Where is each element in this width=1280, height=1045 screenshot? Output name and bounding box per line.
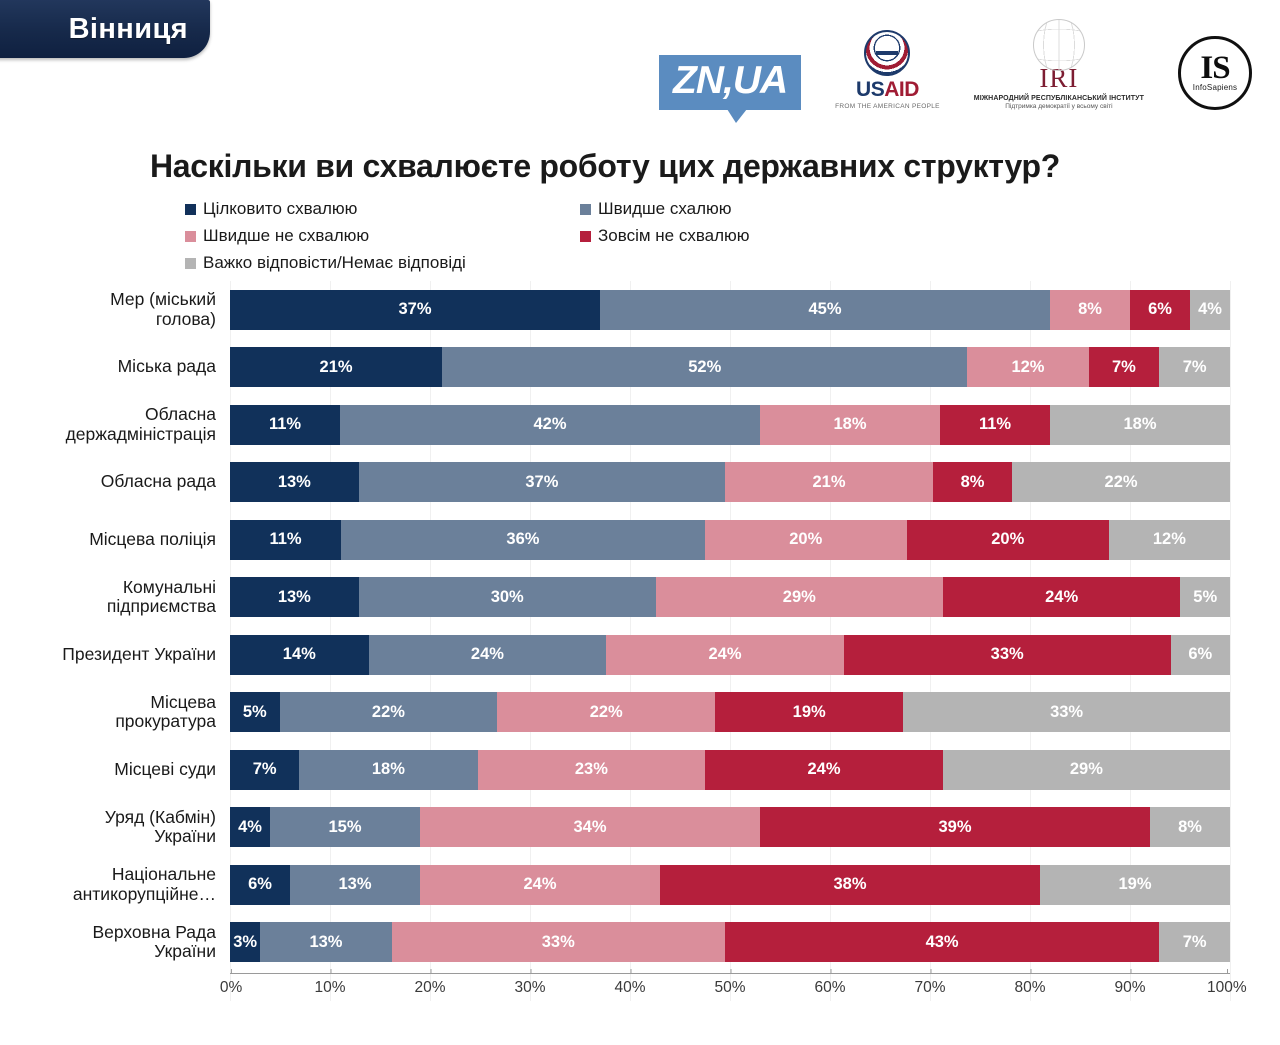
stacked-bar[interactable]: 5%22%22%19%33%: [230, 692, 1230, 732]
usaid-tagline: FROM THE AMERICAN PEOPLE: [835, 103, 940, 110]
legend-label: Швидше схалюю: [598, 199, 732, 219]
chart-row: Обласнадержадміністрація11%42%18%11%18%: [30, 396, 1230, 454]
x-axis-tick-label: 10%: [314, 974, 345, 997]
legend-label: Цілковито схвалюю: [203, 199, 357, 219]
bar-segment[interactable]: 33%: [392, 922, 725, 962]
chart-row: Місцевапрокуратура5%22%22%19%33%: [30, 684, 1230, 742]
chart-row: Мер (міськийголова)37%45%8%6%4%: [30, 281, 1230, 339]
row-label: Місцевапрокуратура: [30, 693, 230, 732]
bar-segment[interactable]: 43%: [725, 922, 1159, 962]
bar-segment[interactable]: 3%: [230, 922, 260, 962]
bar-segment[interactable]: 12%: [967, 347, 1088, 387]
row-label: Комунальніпідприємства: [30, 578, 230, 617]
legend-item-1[interactable]: Швидше схалюю: [580, 199, 975, 219]
bar-segment[interactable]: 33%: [844, 635, 1171, 675]
bar-segment[interactable]: 18%: [760, 405, 940, 445]
bar-segment[interactable]: 20%: [705, 520, 907, 560]
znua-logo: ZN,UA: [659, 55, 801, 110]
x-axis: 0%10%20%30%40%50%60%70%80%90%100%: [30, 973, 1230, 1001]
bar-segment[interactable]: 7%: [230, 750, 299, 790]
row-label: Національнеантикорупційне…: [30, 865, 230, 904]
chart-container: Наскільки ви схвалюєте роботу цих держав…: [0, 128, 1280, 1045]
bar-segment[interactable]: 29%: [656, 577, 943, 617]
city-name-label: Вінниця: [69, 13, 188, 46]
bar-segment[interactable]: 39%: [760, 807, 1150, 847]
znua-logo-box: ZN,UA: [659, 55, 801, 110]
chart-row: Міська рада21%52%12%7%7%: [30, 339, 1230, 397]
chart-row: Комунальніпідприємства13%30%29%24%5%: [30, 569, 1230, 627]
row-label: Обласна рада: [30, 472, 230, 492]
legend-label: Важко відповісти/Немає відповіді: [203, 253, 466, 273]
bar-segment[interactable]: 18%: [299, 750, 477, 790]
legend-label: Зовсім не схвалюю: [598, 226, 750, 246]
stacked-bar[interactable]: 7%18%23%24%29%: [230, 750, 1230, 790]
bar-segment[interactable]: 4%: [1190, 290, 1230, 330]
chart-rows: Мер (міськийголова)37%45%8%6%4%Міська ра…: [30, 281, 1230, 971]
stacked-bar[interactable]: 13%30%29%24%5%: [230, 577, 1230, 617]
bar-segment[interactable]: 52%: [442, 347, 967, 387]
bar-segment[interactable]: 37%: [230, 290, 600, 330]
x-axis-ticks: 0%10%20%30%40%50%60%70%80%90%100%: [230, 973, 1230, 1001]
usaid-logo: USAID FROM THE AMERICAN PEOPLE: [835, 30, 940, 110]
bar-segment[interactable]: 37%: [359, 462, 725, 502]
bar-segment[interactable]: 19%: [715, 692, 903, 732]
bar-segment[interactable]: 24%: [606, 635, 844, 675]
partner-logos: ZN,UA USAID FROM THE AMERICAN PEOPLE IRI…: [659, 18, 1252, 110]
chart-legend: Цілковито схвалююШвидше схалююШвидше не …: [185, 199, 975, 273]
bar-segment[interactable]: 21%: [725, 462, 933, 502]
x-axis-tick-label: 90%: [1114, 974, 1145, 997]
stacked-bar[interactable]: 21%52%12%7%7%: [230, 347, 1230, 387]
chart-plot-area: Мер (міськийголова)37%45%8%6%4%Міська ра…: [30, 281, 1230, 1001]
bar-segment[interactable]: 24%: [420, 865, 660, 905]
znua-speech-tail: [727, 109, 747, 123]
bar-segment[interactable]: 42%: [340, 405, 760, 445]
bar-segment[interactable]: 12%: [1109, 520, 1230, 560]
bar-segment[interactable]: 5%: [230, 692, 280, 732]
chart-row: Місцеві суди7%18%23%24%29%: [30, 741, 1230, 799]
globe-icon: [1033, 19, 1085, 71]
bar-segment[interactable]: 11%: [230, 405, 340, 445]
legend-swatch-icon: [580, 231, 591, 242]
axis-spacer: [30, 973, 230, 1001]
stacked-bar[interactable]: 37%45%8%6%4%: [230, 290, 1230, 330]
bar-segment[interactable]: 30%: [359, 577, 656, 617]
infosapiens-logo: IS InfoSapiens: [1178, 36, 1252, 110]
bar-segment[interactable]: 8%: [933, 462, 1012, 502]
x-axis-tick-label: 70%: [914, 974, 945, 997]
stacked-bar[interactable]: 6%13%24%38%19%: [230, 865, 1230, 905]
chart-title: Наскільки ви схвалюєте роботу цих держав…: [150, 148, 1230, 185]
legend-swatch-icon: [185, 231, 196, 242]
bar-segment[interactable]: 14%: [230, 635, 369, 675]
stacked-bar[interactable]: 3%13%33%43%7%: [230, 922, 1230, 962]
legend-item-2[interactable]: Швидше не схвалюю: [185, 226, 580, 246]
row-label: Уряд (Кабмін)України: [30, 808, 230, 847]
bar-segment[interactable]: 24%: [943, 577, 1181, 617]
bar-segment[interactable]: 11%: [940, 405, 1050, 445]
bar-segment[interactable]: 29%: [943, 750, 1230, 790]
chart-row: Президент України14%24%24%33%6%: [30, 626, 1230, 684]
stacked-bar[interactable]: 4%15%34%39%8%: [230, 807, 1230, 847]
bar-segment[interactable]: 20%: [907, 520, 1109, 560]
x-axis-tick-label: 80%: [1014, 974, 1045, 997]
bar-segment[interactable]: 15%: [270, 807, 420, 847]
bar-segment[interactable]: 22%: [280, 692, 498, 732]
infosapiens-letters: IS: [1200, 54, 1229, 84]
chart-row: Верховна РадаУкраїни3%13%33%43%7%: [30, 914, 1230, 972]
bar-segment[interactable]: 6%: [1171, 635, 1230, 675]
bar-segment[interactable]: 13%: [230, 577, 359, 617]
bar-segment[interactable]: 23%: [478, 750, 706, 790]
bar-segment[interactable]: 22%: [497, 692, 715, 732]
infosapiens-wordmark: InfoSapiens: [1193, 83, 1237, 92]
bar-segment[interactable]: 33%: [903, 692, 1230, 732]
legend-item-4[interactable]: Важко відповісти/Немає відповіді: [185, 253, 580, 273]
row-label: Міська рада: [30, 357, 230, 377]
bar-segment[interactable]: 8%: [1150, 807, 1230, 847]
usaid-wordmark: USAID: [856, 79, 919, 101]
iri-tagline: Підтримка демократії у всьому світі: [1005, 103, 1112, 110]
stacked-bar[interactable]: 13%37%21%8%22%: [230, 462, 1230, 502]
stacked-bar[interactable]: 11%42%18%11%18%: [230, 405, 1230, 445]
usaid-seal-icon: [864, 30, 910, 76]
bar-segment[interactable]: 6%: [230, 865, 290, 905]
gridline: [1230, 281, 1231, 1001]
bar-segment[interactable]: 22%: [1012, 462, 1230, 502]
chart-row: Уряд (Кабмін)України4%15%34%39%8%: [30, 799, 1230, 857]
bar-segment[interactable]: 18%: [1050, 405, 1230, 445]
znua-logo-text: ZN,UA: [673, 59, 787, 102]
legend-swatch-icon: [185, 204, 196, 215]
page-header: Вінниця ZN,UA USAID FROM THE AMERICAN PE…: [0, 0, 1280, 128]
row-label: Місцева поліція: [30, 530, 230, 550]
legend-item-0[interactable]: Цілковито схвалюю: [185, 199, 580, 219]
usaid-word-us: US: [856, 78, 884, 101]
x-axis-tick-label: 60%: [814, 974, 845, 997]
iri-institute-name: МІЖНАРОДНИЙ РЕСПУБЛІКАНСЬКИЙ ІНСТИТУТ: [974, 95, 1144, 102]
x-axis-tick-label: 30%: [514, 974, 545, 997]
chart-row: Національнеантикорупційне…6%13%24%38%19%: [30, 856, 1230, 914]
row-label: Мер (міськийголова): [30, 290, 230, 329]
stacked-bar[interactable]: 14%24%24%33%6%: [230, 635, 1230, 675]
bar-segment[interactable]: 21%: [230, 347, 442, 387]
bar-segment[interactable]: 13%: [260, 922, 391, 962]
legend-item-3[interactable]: Зовсім не схвалюю: [580, 226, 975, 246]
row-label: Верховна РадаУкраїни: [30, 923, 230, 962]
row-label: Місцеві суди: [30, 760, 230, 780]
chart-row: Обласна рада13%37%21%8%22%: [30, 454, 1230, 512]
x-axis-tick-label: 40%: [614, 974, 645, 997]
bar-segment[interactable]: 13%: [290, 865, 420, 905]
row-label: Президент України: [30, 645, 230, 665]
legend-label: Швидше не схвалюю: [203, 226, 369, 246]
bar-segment[interactable]: 11%: [230, 520, 341, 560]
bar-segment[interactable]: 24%: [705, 750, 943, 790]
x-axis-tick-label: 100%: [1207, 974, 1247, 997]
bar-segment[interactable]: 38%: [660, 865, 1040, 905]
bar-segment[interactable]: 7%: [1159, 347, 1230, 387]
bar-segment[interactable]: 6%: [1130, 290, 1190, 330]
usaid-word-aid: AID: [884, 78, 919, 101]
x-axis-tick-label: 20%: [414, 974, 445, 997]
bar-segment[interactable]: 19%: [1040, 865, 1230, 905]
bar-segment[interactable]: 7%: [1159, 922, 1230, 962]
bar-segment[interactable]: 34%: [420, 807, 760, 847]
legend-swatch-icon: [185, 258, 196, 269]
x-axis-tick-label: 0%: [220, 974, 242, 997]
bar-segment[interactable]: 24%: [369, 635, 607, 675]
row-label: Обласнадержадміністрація: [30, 405, 230, 444]
x-axis-tick-label: 50%: [714, 974, 745, 997]
bar-segment[interactable]: 7%: [1089, 347, 1160, 387]
city-banner: Вінниця: [0, 0, 210, 58]
bar-segment[interactable]: 13%: [230, 462, 359, 502]
iri-logo: IRI МІЖНАРОДНИЙ РЕСПУБЛІКАНСЬКИЙ ІНСТИТУ…: [974, 19, 1144, 110]
chart-row: Місцева поліція11%36%20%20%12%: [30, 511, 1230, 569]
bar-segment[interactable]: 36%: [341, 520, 705, 560]
legend-swatch-icon: [580, 204, 591, 215]
stacked-bar[interactable]: 11%36%20%20%12%: [230, 520, 1230, 560]
bar-segment[interactable]: 45%: [600, 290, 1050, 330]
bar-segment[interactable]: 4%: [230, 807, 270, 847]
bar-segment[interactable]: 8%: [1050, 290, 1130, 330]
bar-segment[interactable]: 5%: [1180, 577, 1230, 617]
